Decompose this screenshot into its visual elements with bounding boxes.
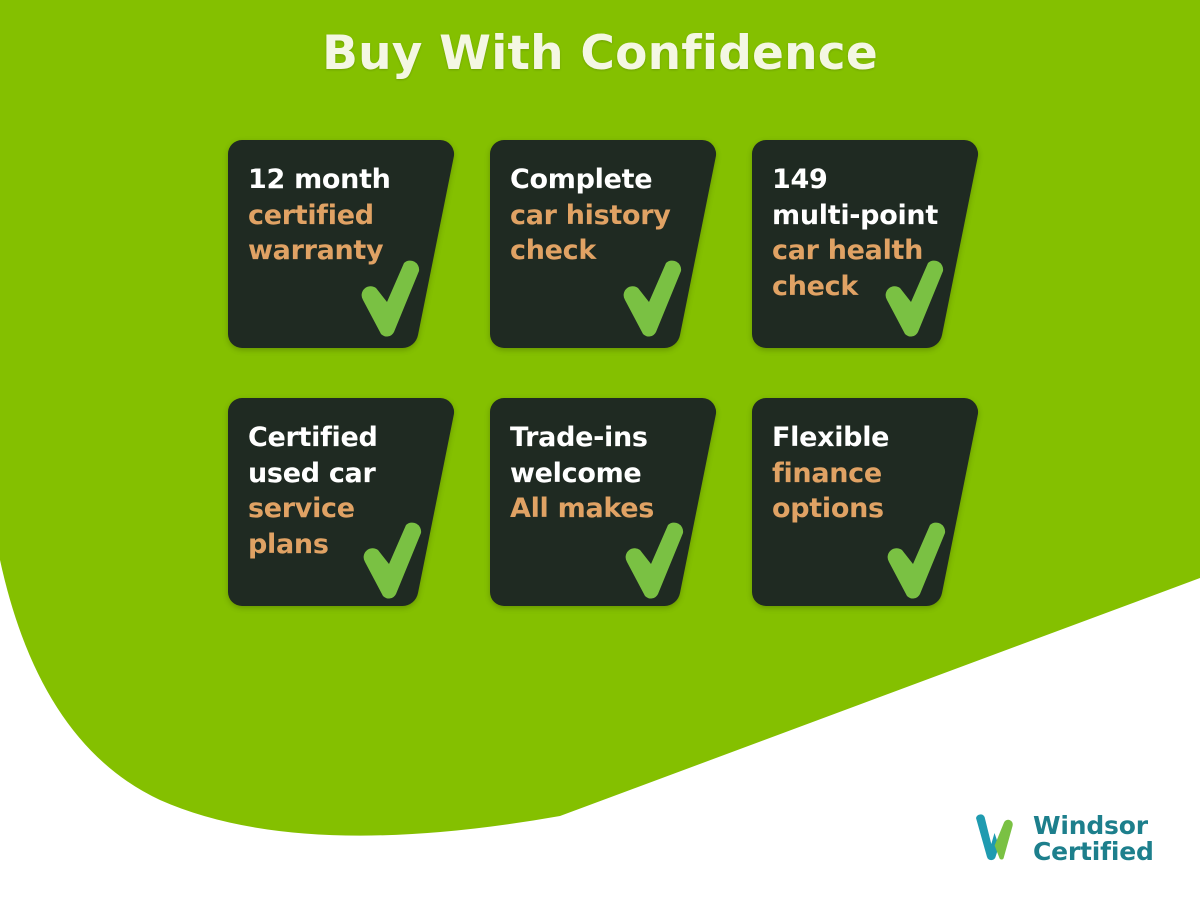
promo-banner: Buy With Confidence 12 month certified w… <box>0 0 1200 900</box>
card-line: used car <box>248 456 428 492</box>
card-text: Trade-ins welcome All makes <box>490 398 690 527</box>
feature-card-certified-warranty[interactable]: 12 month certified warranty <box>228 140 458 348</box>
feature-card-service-plans[interactable]: Certified used car service plans <box>228 398 458 606</box>
card-line: Certified <box>248 420 428 456</box>
check-mark-icon <box>884 260 946 338</box>
check-mark-icon <box>624 522 686 600</box>
feature-card-trade-ins[interactable]: Trade-ins welcome All makes <box>490 398 720 606</box>
card-line: Flexible <box>772 420 952 456</box>
brand-logo[interactable]: Windsor Certified <box>972 812 1154 866</box>
brand-name-line2: Certified <box>1033 839 1154 866</box>
card-line: 12 month <box>248 162 428 198</box>
check-mark-icon <box>622 260 684 338</box>
feature-card-finance-options[interactable]: Flexible finance options <box>752 398 982 606</box>
brand-name-line1: Windsor <box>1033 813 1154 840</box>
card-line: Complete <box>510 162 690 198</box>
card-line: multi-point <box>772 198 952 234</box>
card-line: 149 <box>772 162 952 198</box>
windsor-w-logo-icon <box>972 812 1022 866</box>
feature-card-car-history-check[interactable]: Complete car history check <box>490 140 720 348</box>
card-text: Complete car history check <box>490 140 690 269</box>
brand-name: Windsor Certified <box>1033 813 1154 866</box>
check-mark-icon <box>360 260 422 338</box>
card-text: Flexible finance options <box>752 398 952 527</box>
card-line: certified <box>248 198 428 234</box>
card-line: car history <box>510 198 690 234</box>
check-mark-icon <box>362 522 424 600</box>
card-line: finance <box>772 456 952 492</box>
card-line: Trade-ins <box>510 420 690 456</box>
page-title: Buy With Confidence <box>0 26 1200 81</box>
card-text: 12 month certified warranty <box>228 140 428 269</box>
card-line: welcome <box>510 456 690 492</box>
check-mark-icon <box>886 522 948 600</box>
feature-card-grid: 12 month certified warranty Complete car… <box>228 140 988 606</box>
feature-card-car-health-check[interactable]: 149 multi-point car health check <box>752 140 982 348</box>
